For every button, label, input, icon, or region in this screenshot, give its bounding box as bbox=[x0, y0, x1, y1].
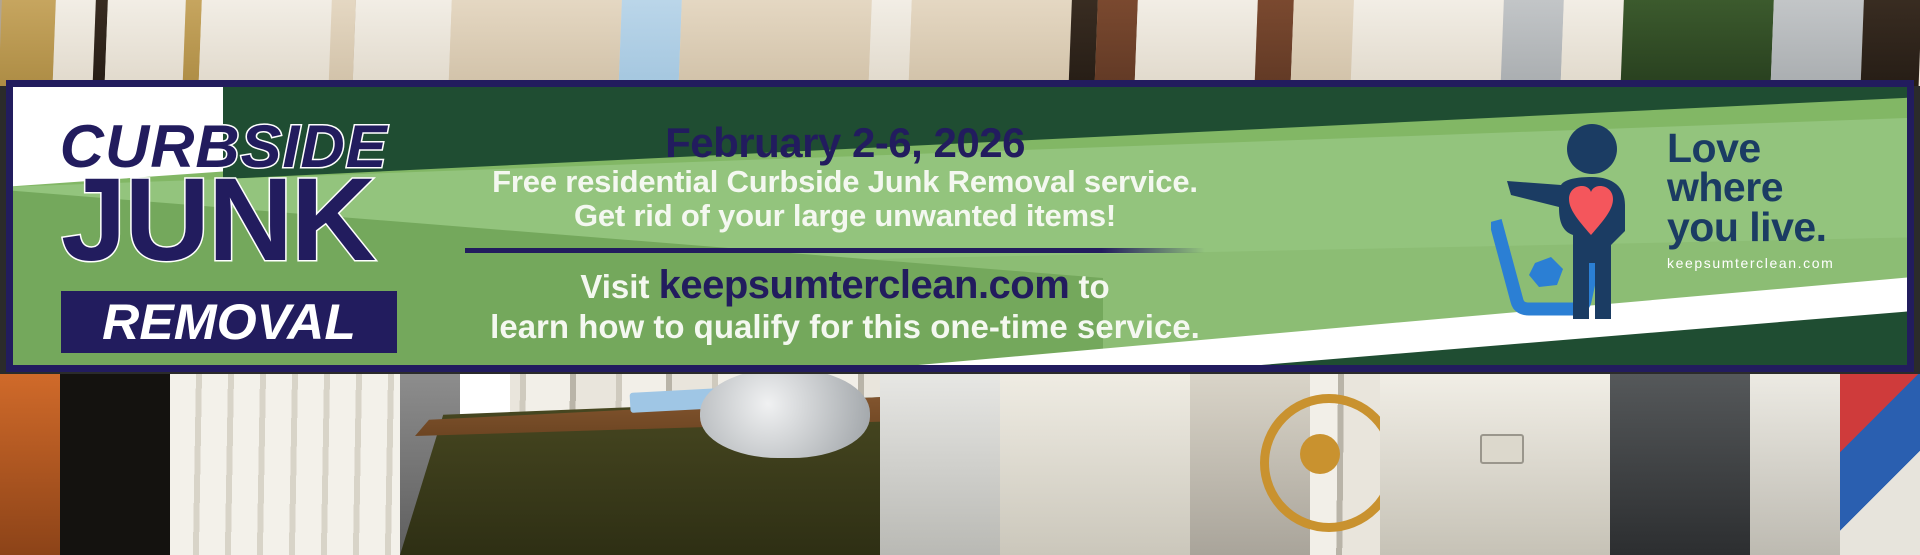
brand-website-url[interactable]: keepsumterclean.com bbox=[1667, 255, 1883, 271]
photo-door-panel bbox=[1094, 0, 1138, 86]
visit-line: Visit keepsumterclean.com to bbox=[465, 263, 1225, 307]
banner-inner: CURBSIDE JUNK REMOVAL February 2-6, 2026… bbox=[13, 87, 1907, 365]
photo-door-panel bbox=[104, 0, 186, 86]
banner-copy: February 2-6, 2026 Free residential Curb… bbox=[465, 121, 1225, 346]
website-link[interactable]: keepsumterclean.com bbox=[659, 263, 1070, 307]
event-date-headline: February 2-6, 2026 bbox=[465, 121, 1225, 165]
person-head bbox=[1567, 124, 1617, 174]
photo-door-panel bbox=[1560, 0, 1624, 86]
photo-sky-gap bbox=[618, 0, 682, 86]
photo-appliance-drum bbox=[700, 374, 870, 458]
photo-door-panel bbox=[1290, 0, 1354, 86]
logo-line-junk: JUNK bbox=[61, 161, 374, 279]
photo-shadow bbox=[60, 374, 170, 555]
photo-panel bbox=[880, 374, 1000, 555]
service-description-line-2: Get rid of your large unwanted items! bbox=[465, 199, 1225, 234]
curbside-junk-removal-logo: CURBSIDE JUNK REMOVAL bbox=[57, 117, 417, 353]
photo-door-panel bbox=[1254, 0, 1294, 86]
logo-removal-bar: REMOVAL bbox=[61, 291, 397, 353]
visit-prefix-label: Visit bbox=[580, 268, 649, 305]
photo-door-panel bbox=[1860, 0, 1920, 86]
photo-panel bbox=[1000, 374, 1190, 555]
photo-panel bbox=[1750, 374, 1840, 555]
tagline-line-3: you live. bbox=[1667, 208, 1883, 247]
background-photo-bottom-strip bbox=[0, 374, 1920, 555]
keep-sumter-clean-logo: Love where you live. keepsumterclean.com bbox=[1491, 123, 1883, 343]
brand-tagline: Love where you live. keepsumterclean.com bbox=[1667, 129, 1883, 271]
photo-fence bbox=[1770, 0, 1864, 86]
photo-door-panel bbox=[868, 0, 912, 86]
love-where-you-live-artwork bbox=[1491, 123, 1661, 323]
photo-door-panel bbox=[678, 0, 872, 86]
photo-door-panel bbox=[352, 0, 452, 86]
horizontal-divider bbox=[465, 248, 1205, 253]
photo-colored-object bbox=[1840, 374, 1920, 555]
photo-dark-object bbox=[1610, 374, 1750, 555]
qualify-instruction-line: learn how to qualify for this one-time s… bbox=[465, 309, 1225, 346]
visit-suffix-label: to bbox=[1078, 268, 1109, 305]
photo-cabinet-handle bbox=[1480, 434, 1524, 464]
photo-door-panel bbox=[448, 0, 622, 86]
photo-siding bbox=[170, 374, 400, 555]
person-icon bbox=[1507, 124, 1625, 319]
photo-cabinet bbox=[1380, 374, 1610, 555]
tagline-line-1: Love bbox=[1667, 129, 1883, 168]
photo-door-panel bbox=[1134, 0, 1258, 86]
photo-object bbox=[0, 374, 60, 555]
photo-door-panel bbox=[198, 0, 332, 86]
photo-foliage bbox=[1620, 0, 1774, 86]
photo-door-panel bbox=[0, 0, 56, 86]
background-photo-top-strip bbox=[0, 0, 1920, 86]
promo-banner: CURBSIDE JUNK REMOVAL February 2-6, 2026… bbox=[6, 80, 1914, 372]
photo-wheel-hub bbox=[1300, 434, 1340, 474]
photo-door-panel bbox=[52, 0, 96, 86]
photo-door-panel bbox=[1068, 0, 1098, 86]
photo-door-panel bbox=[1350, 0, 1504, 86]
photo-door-panel bbox=[908, 0, 1072, 86]
tagline-line-2: where bbox=[1667, 168, 1883, 207]
photo-appliance bbox=[1500, 0, 1564, 86]
service-description-line-1: Free residential Curbside Junk Removal s… bbox=[465, 165, 1225, 200]
photo-door-panel bbox=[328, 0, 356, 86]
logo-line-removal: REMOVAL bbox=[56, 291, 402, 353]
litter-piece-icon bbox=[1529, 257, 1563, 287]
